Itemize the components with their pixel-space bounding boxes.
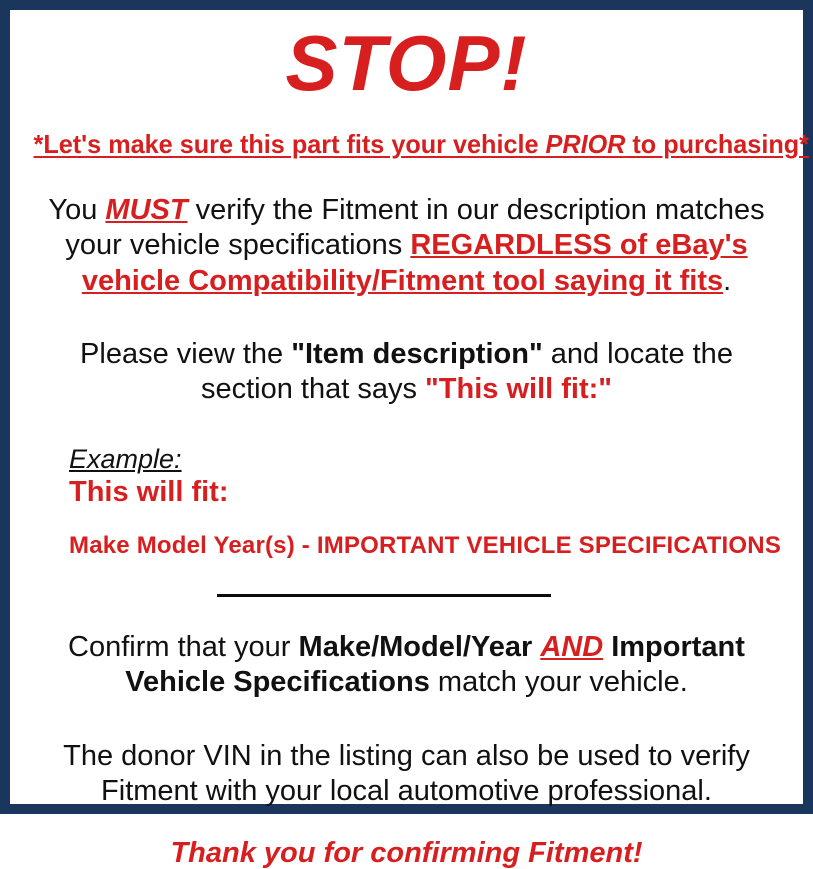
stop-heading: STOP! — [22, 10, 791, 102]
thank-you-message: Thank you for confirming Fitment! — [22, 810, 791, 869]
tagline-before: *Let's make sure this part fits your veh… — [34, 129, 546, 159]
this-will-fit-quote: "This will fit:" — [425, 373, 612, 405]
example-label-row: Example: — [69, 444, 791, 475]
example-label: Example: — [69, 444, 182, 475]
itemdesc-lead: Please view the — [80, 338, 291, 370]
confirm-space-2 — [603, 631, 611, 663]
example-spec-line: Make Model Year(s) - IMPORTANT VEHICLE S… — [69, 509, 791, 559]
make-model-year-bold: Make/Model/Year — [299, 631, 533, 663]
paragraph-must-verify: You MUST verify the Fitment in our descr… — [22, 160, 791, 299]
divider-wrapper — [22, 559, 791, 605]
example-this-will-fit: This will fit: — [69, 475, 791, 509]
tagline-emphasis-prior: PRIOR — [546, 129, 626, 159]
notice-content: STOP! *Let's make sure this part fits yo… — [10, 10, 803, 804]
paragraph-donor-vin: The donor VIN in the listing can also be… — [22, 701, 791, 810]
fitment-notice-card: STOP! *Let's make sure this part fits yo… — [0, 0, 813, 814]
paragraph-item-description: Please view the "Item description" and l… — [22, 299, 791, 408]
confirm-tail: match your vehicle. — [430, 666, 688, 698]
must-keyword: MUST — [105, 194, 187, 226]
tagline-after: to purchasing* — [625, 129, 809, 159]
item-description-quote: "Item description" — [291, 338, 542, 370]
example-block: Example: This will fit: Make Model Year(… — [22, 408, 791, 559]
and-keyword: AND — [540, 631, 603, 663]
must-text-lead: You — [48, 194, 105, 226]
must-text-end: . — [723, 265, 731, 297]
horizontal-divider — [217, 594, 551, 597]
confirm-lead: Confirm that your — [68, 631, 298, 663]
paragraph-confirm: Confirm that your Make/Model/Year AND Im… — [22, 605, 791, 701]
tagline: *Let's make sure this part fits your veh… — [34, 102, 780, 160]
